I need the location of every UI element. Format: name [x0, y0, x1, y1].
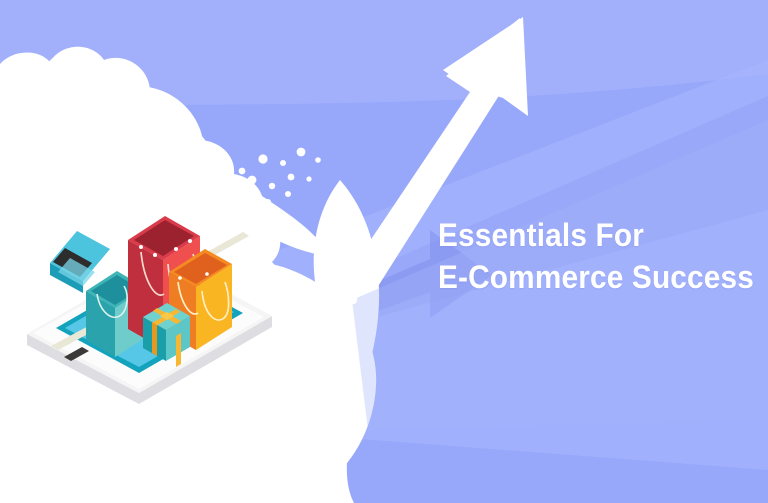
bag-orange-stud-b [205, 272, 209, 276]
gift-ribbon-front [176, 333, 181, 367]
bag-red-stud-d [188, 239, 192, 243]
headline: Essentials For E-Commerce Success [438, 214, 736, 298]
ecommerce-banner: Essentials For E-Commerce Success [0, 0, 768, 503]
bag-orange-stud-a [178, 276, 182, 280]
gift-ribbon-side [152, 322, 157, 356]
headline-line-1: Essentials For [438, 214, 736, 256]
headline-line-2: E-Commerce Success [438, 256, 736, 298]
phone-speaker-bar-top [207, 232, 249, 256]
bag-red-stud-c [174, 247, 178, 251]
bag-red-stud-a [139, 245, 143, 249]
bag-red-stud-b [153, 253, 157, 257]
